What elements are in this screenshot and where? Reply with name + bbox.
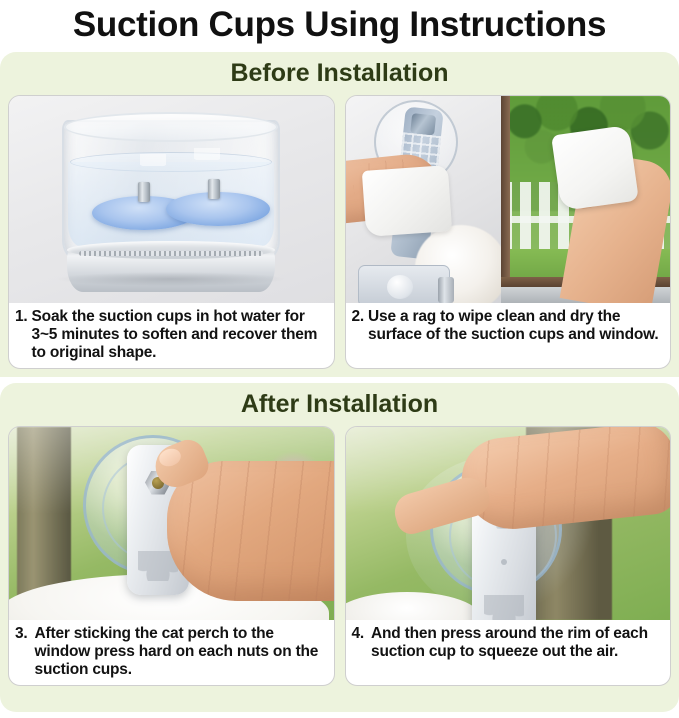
cleaning-cloth-left	[361, 165, 451, 237]
suction-cup-bolt	[208, 179, 220, 199]
bracket-bolt	[410, 113, 436, 135]
step-caption-2: 2. Use a rag to wipe clean and dry the s…	[346, 303, 671, 368]
step-number-1: 1.	[15, 308, 32, 326]
photo-2-left-wiping-cup	[346, 96, 502, 303]
paw-print-emboss-icon	[484, 595, 524, 620]
step-card-2: 2. Use a rag to wipe clean and dry the s…	[345, 95, 672, 369]
step-photo-2	[346, 96, 671, 303]
card-row-after: 3. After sticking the cat perch to the w…	[8, 426, 671, 686]
step-caption-3: 3. After sticking the cat perch to the w…	[9, 620, 334, 685]
step-number-3: 3.	[15, 625, 35, 643]
section-header-after: After Installation	[8, 383, 671, 426]
step-text-2: Use a rag to wipe clean and dry the surf…	[368, 308, 664, 344]
mount-screw-hole	[501, 559, 507, 565]
section-after-installation: After Installation	[0, 383, 679, 712]
photo-2-right-wiping-window	[501, 96, 670, 303]
section-header-before: Before Installation	[8, 52, 671, 95]
step-card-3: 3. After sticking the cat perch to the w…	[8, 426, 335, 686]
step-card-4: 4. And then press around the rim of each…	[345, 426, 672, 686]
step-caption-4: 4. And then press around the rim of each…	[346, 620, 671, 685]
step-card-1: 1. Soak the suction cups in hot water fo…	[8, 95, 335, 369]
drop-shadow	[58, 272, 284, 286]
step-number-4: 4.	[352, 625, 372, 643]
step-photo-1	[9, 96, 334, 303]
metal-clip	[438, 277, 454, 303]
paw-print-reflection-icon	[194, 148, 220, 160]
step-photo-3	[9, 427, 334, 620]
card-row-before: 1. Soak the suction cups in hot water fo…	[8, 95, 671, 369]
suction-cup-bolt	[138, 182, 150, 202]
instruction-infographic: Suction Cups Using Instructions Before I…	[0, 0, 679, 718]
window-frame-vertical	[501, 96, 510, 303]
water-jar-illustration	[62, 112, 280, 280]
glass-base-texture	[79, 251, 263, 256]
step-text-1: Soak the suction cups in hot water for 3…	[32, 308, 328, 362]
step-text-3: After sticking the cat perch to the wind…	[35, 625, 328, 679]
tray-knob	[387, 275, 413, 299]
step-caption-1: 1. Soak the suction cups in hot water fo…	[9, 303, 334, 368]
perch-tray	[358, 265, 450, 303]
cleaning-cloth-right	[551, 124, 639, 210]
step-number-2: 2.	[352, 308, 369, 326]
step-photo-4	[346, 427, 671, 620]
glass-rim	[64, 112, 278, 142]
paw-print-reflection-icon	[140, 154, 166, 166]
section-before-installation: Before Installation	[0, 52, 679, 377]
glass-base-top	[67, 241, 275, 259]
step-text-4: And then press around the rim of each su…	[371, 625, 664, 661]
page-title: Suction Cups Using Instructions	[0, 0, 679, 52]
